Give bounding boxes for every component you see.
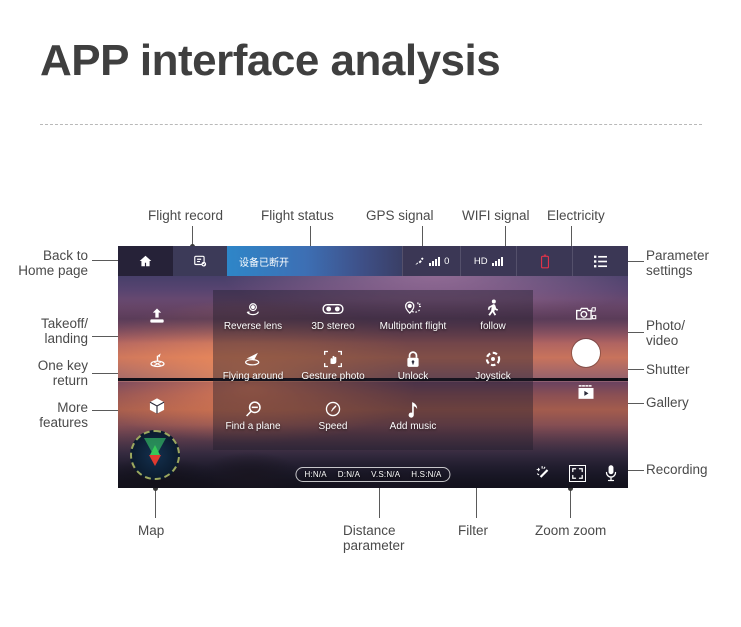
flight-record-icon [193, 254, 207, 268]
compass-heading-arrow-icon [149, 455, 161, 466]
menu-label: Flying around [223, 371, 284, 383]
one-key-return-button[interactable] [147, 352, 168, 370]
anno-distance-parameter: Distance parameter [343, 523, 405, 553]
anno-gps-signal: GPS signal [366, 208, 434, 223]
lock-icon [405, 348, 421, 370]
anno-gallery: Gallery [646, 395, 689, 410]
menu-item-speed[interactable]: Speed [293, 398, 373, 448]
wifi-signal-indicator: HD [460, 246, 516, 276]
anno-filter: Filter [458, 523, 488, 538]
menu-label: Reverse lens [224, 321, 282, 333]
takeoff-landing-button[interactable] [147, 306, 167, 326]
zoom-button[interactable] [569, 465, 586, 482]
menu-item-3d-stereo[interactable]: 3D stereo [293, 298, 373, 348]
joystick-icon [484, 348, 502, 370]
anno-map: Map [138, 523, 164, 538]
menu-item-find-a-plane[interactable]: Find a plane [213, 398, 293, 448]
menu-item-unlock[interactable]: Unlock [373, 348, 453, 398]
filter-button[interactable] [534, 465, 551, 482]
gps-satellite-count: 0 [444, 256, 449, 267]
menu-row-2: Flying around Gesture photo [213, 348, 533, 398]
anno-electricity: Electricity [547, 208, 605, 223]
flight-status-text: 设备已断开 [239, 254, 289, 269]
wifi-signal-bars-icon [492, 257, 504, 266]
home-icon [138, 254, 153, 268]
recording-button[interactable] [604, 464, 618, 482]
zoom-frame-icon [572, 468, 583, 479]
menu-item-joystick[interactable]: Joystick [453, 348, 533, 398]
battery-icon [540, 254, 550, 269]
map-compass-widget[interactable] [130, 430, 180, 480]
distance-parameter-bar: H:N/A D:N/A V.S:N/A H.S:N/A [295, 467, 450, 482]
page-root: APP interface analysis Flight record Fli… [0, 0, 741, 627]
orbit-flight-icon [243, 348, 263, 370]
menu-label: Multipoint flight [380, 321, 447, 333]
waypoint-icon [403, 298, 423, 320]
camera-switch-icon [575, 304, 597, 323]
shutter-icon [572, 339, 600, 367]
more-features-button[interactable] [147, 396, 167, 416]
menu-row-1: Reverse lens 3D stereo [213, 298, 533, 348]
list-menu-icon [593, 255, 608, 268]
menu-row-3: Find a plane Speed [213, 398, 533, 448]
vr-goggles-icon [322, 298, 344, 320]
anno-takeoff-landing: Takeoff/ landing [8, 316, 88, 346]
anno-zoom-zoom: Zoom zoom [535, 523, 606, 538]
right-control-rail [566, 304, 606, 403]
bottom-tool-row [534, 464, 618, 482]
menu-item-gesture-photo[interactable]: Gesture photo [293, 348, 373, 398]
app-top-toolbar: 设备已断开 0 HD [118, 246, 628, 276]
parameter-settings-button[interactable] [572, 246, 628, 276]
shutter-button[interactable] [572, 339, 600, 367]
anno-more-features: More features [8, 400, 88, 430]
anno-one-key-return: One key return [8, 358, 88, 388]
menu-label: Unlock [398, 371, 429, 383]
music-note-icon [406, 398, 420, 420]
leader-flight-record [192, 226, 193, 246]
menu-label: Gesture photo [301, 371, 364, 383]
flight-status-bar: 设备已断开 [227, 246, 402, 276]
anno-shutter: Shutter [646, 362, 690, 377]
distance-param-vs: V.S:N/A [371, 470, 400, 479]
gallery-button[interactable] [575, 383, 597, 403]
menu-label: 3D stereo [311, 321, 354, 333]
gps-satellite-icon [414, 256, 425, 267]
distance-param-h: H:N/A [304, 470, 326, 479]
page-title: APP interface analysis [40, 36, 500, 86]
back-to-home-page-button[interactable] [118, 246, 173, 276]
distance-param-hs: H.S:N/A [411, 470, 441, 479]
menu-item-add-music[interactable]: Add music [373, 398, 453, 448]
anno-flight-status: Flight status [261, 208, 334, 223]
title-divider [40, 124, 702, 125]
distance-param-d: D:N/A [338, 470, 360, 479]
find-drone-icon [244, 398, 263, 420]
anno-parameter-settings: Parameter settings [646, 248, 709, 278]
leader-map [155, 490, 156, 518]
menu-label: Add music [390, 421, 437, 433]
electricity-indicator [516, 246, 572, 276]
reverse-lens-icon [244, 298, 262, 320]
person-walking-icon [486, 298, 500, 320]
menu-item-flying-around[interactable]: Flying around [213, 348, 293, 398]
left-control-rail [140, 306, 174, 416]
gps-signal-bars-icon [429, 257, 441, 266]
one-key-return-icon [147, 352, 168, 370]
feature-menu-panel: Reverse lens 3D stereo [213, 290, 533, 450]
takeoff-landing-icon [147, 306, 167, 326]
wifi-quality-label: HD [474, 256, 488, 267]
leader-zoom-zoom [570, 490, 571, 518]
menu-item-reverse-lens[interactable]: Reverse lens [213, 298, 293, 348]
gps-signal-indicator: 0 [402, 246, 460, 276]
magic-wand-icon [537, 466, 548, 477]
film-play-icon [575, 383, 597, 403]
menu-label: follow [480, 321, 506, 333]
anno-back-to-home-page: Back to Home page [8, 248, 88, 278]
menu-label: Find a plane [225, 421, 280, 433]
cube-icon [147, 396, 167, 416]
menu-label: Speed [319, 421, 348, 433]
menu-label: Joystick [475, 371, 511, 383]
compass-north-arrow-icon [150, 445, 160, 455]
anno-photo-video: Photo/ video [646, 318, 685, 348]
menu-item-multipoint-flight[interactable]: Multipoint flight [373, 298, 453, 348]
menu-item-follow[interactable]: follow [453, 298, 533, 348]
speedometer-icon [324, 398, 342, 420]
app-screenshot: 设备已断开 0 HD [118, 246, 628, 488]
anno-recording: Recording [646, 462, 708, 477]
anno-flight-record: Flight record [148, 208, 223, 223]
gesture-frame-icon [323, 348, 343, 370]
flight-record-button[interactable] [173, 246, 227, 276]
microphone-icon [604, 464, 618, 482]
photo-video-toggle[interactable] [575, 304, 597, 323]
anno-wifi-signal: WIFI signal [462, 208, 530, 223]
